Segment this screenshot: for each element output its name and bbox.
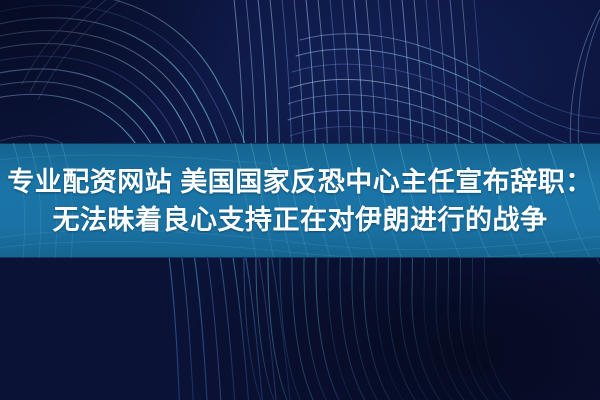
headline-line-2: 无法昧着良心支持正在对伊朗进行的战争 bbox=[53, 203, 548, 237]
news-banner-image: 专业配资网站 美国国家反恐中心主任宣布辞职： 无法昧着良心支持正在对伊朗进行的战… bbox=[0, 0, 600, 400]
headline-banner: 专业配资网站 美国国家反恐中心主任宣布辞职： 无法昧着良心支持正在对伊朗进行的战… bbox=[0, 143, 600, 258]
headline-line-1: 专业配资网站 美国国家反恐中心主任宣布辞职： bbox=[7, 165, 593, 199]
headline-text-block: 专业配资网站 美国国家反恐中心主任宣布辞职： 无法昧着良心支持正在对伊朗进行的战… bbox=[0, 143, 600, 258]
